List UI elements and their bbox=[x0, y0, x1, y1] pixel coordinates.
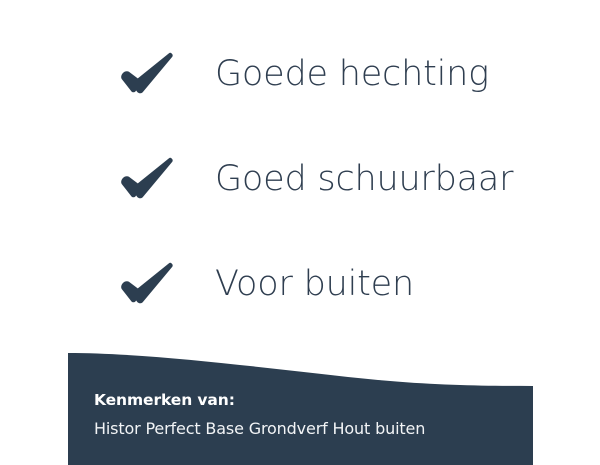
banner-subtitle: Histor Perfect Base Grondverf Hout buite… bbox=[94, 419, 514, 439]
list-item: Goede hechting bbox=[118, 46, 489, 102]
list-item: Goed schuurbaar bbox=[118, 151, 513, 207]
banner-heading: Kenmerken van: bbox=[94, 391, 514, 410]
check-icon bbox=[118, 258, 176, 310]
banner-text-block: Kenmerken van: Histor Perfect Base Grond… bbox=[94, 391, 514, 439]
benefit-label: Voor buiten bbox=[215, 267, 414, 302]
benefit-label: Goede hechting bbox=[215, 57, 489, 92]
footer-banner: Kenmerken van: Histor Perfect Base Grond… bbox=[68, 348, 533, 465]
list-item: Voor buiten bbox=[118, 256, 414, 312]
product-benefits-card: Goede hechting Goed schuurbaar Voor buit… bbox=[0, 0, 600, 465]
check-icon bbox=[118, 48, 176, 100]
check-icon bbox=[118, 153, 176, 205]
benefit-label: Goed schuurbaar bbox=[215, 162, 513, 197]
